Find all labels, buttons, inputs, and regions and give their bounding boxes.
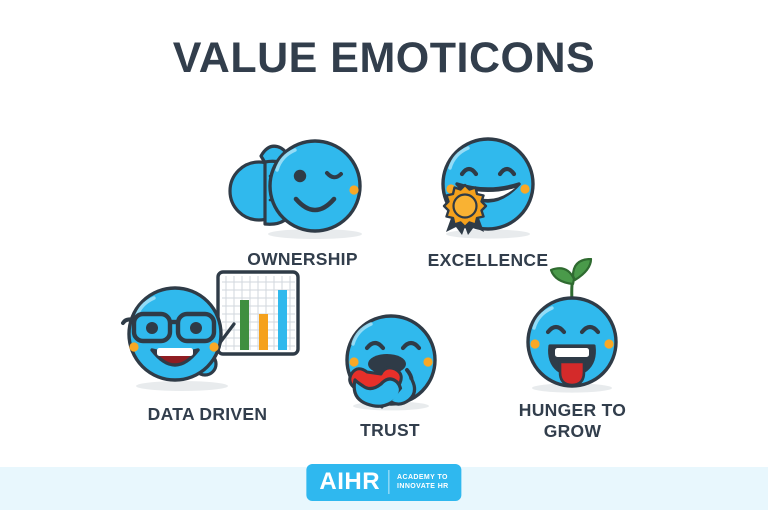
aihr-logo[interactable]: AIHR ACADEMY TO INNOVATE HR [306,464,461,501]
emoticon-ownership: OWNERSHIP [215,128,390,270]
emoticon-label-hunger-to-grow: HUNGER TO GROW [500,400,645,441]
emoticon-label-ownership: OWNERSHIP [215,249,390,270]
emoticon-excellence: EXCELLENCE [408,132,568,271]
smiley-winking-thumbs-up-icon [215,128,390,240]
smiley-sprout-tongue-icon [500,258,645,396]
emoticon-data-driven: DATA DRIVEN [110,268,305,425]
logo-wordmark: AIHR [319,470,380,494]
page-title: VALUE EMOTICONS [0,34,768,83]
emoticon-trust: TRUST [325,308,455,441]
poster-canvas: VALUE EMOTICONS OWNERSHIP [0,0,768,510]
logo-tagline: ACADEMY TO INNOVATE HR [397,473,449,492]
smiley-holding-heart-icon [325,308,455,412]
smiley-award-medal-icon [408,132,568,240]
nerd-glasses-icon [123,314,214,341]
smiley-glasses-chart-icon [110,268,305,396]
logo-divider [388,470,389,494]
bar-chart-board [218,272,298,354]
emoticon-label-data-driven: DATA DRIVEN [110,404,305,425]
emoticon-label-trust: TRUST [325,420,455,441]
emoticon-hunger-to-grow: HUNGER TO GROW [500,258,645,441]
